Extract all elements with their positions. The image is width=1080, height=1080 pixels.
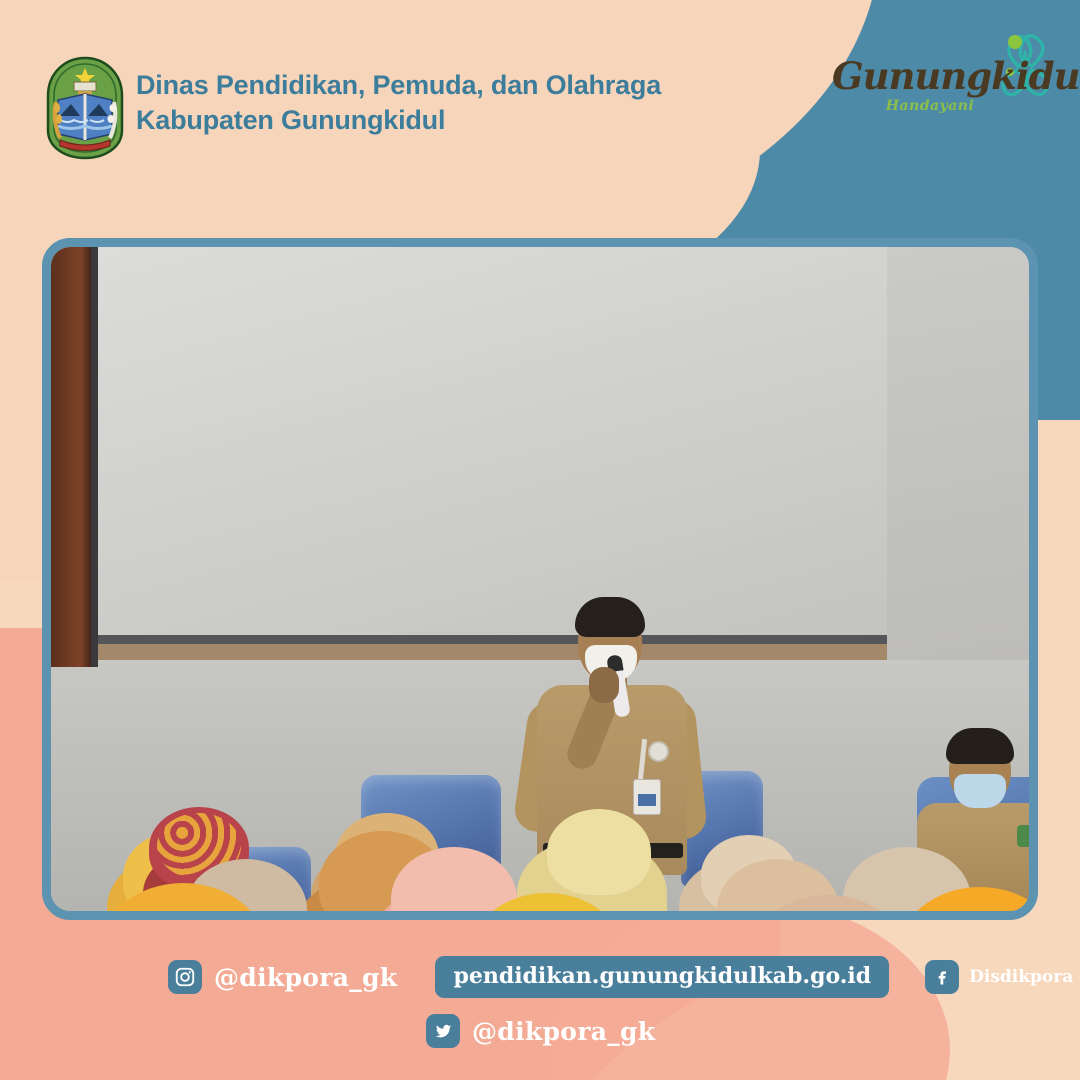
- facebook-page-name[interactable]: Disdikpora Gunungkidul: [969, 967, 1080, 987]
- website-url-pill[interactable]: pendidikan.gunungkidulkab.go.id: [435, 956, 889, 998]
- brand-wordmark: Gunungkidul: [832, 54, 1042, 98]
- gunungkidul-coat-of-arms-icon: [44, 56, 126, 160]
- door-edge: [91, 247, 98, 667]
- speaker-hair: [575, 597, 645, 637]
- poster-footer: @dikpora_gk pendidikan.gunungkidulkab.go…: [0, 940, 1080, 1080]
- poster-canvas: Dinas Pendidikan, Pemuda, dan Olahraga K…: [0, 0, 1080, 1080]
- twitter-icon[interactable]: [426, 1014, 460, 1048]
- event-photo-frame: [42, 238, 1038, 920]
- instagram-icon[interactable]: [168, 960, 202, 994]
- uniform-patch: [1017, 825, 1029, 847]
- poster-header: Dinas Pendidikan, Pemuda, dan Olahraga K…: [0, 0, 1080, 210]
- footer-row-secondary: @dikpora_gk: [426, 1014, 655, 1048]
- facebook-group[interactable]: Disdikpora Gunungkidul: [925, 960, 1080, 994]
- agency-line-2: Kabupaten Gunungkidul: [136, 103, 756, 138]
- gunungkidul-brand-logo: Gunungkidul Handayani: [832, 26, 1062, 136]
- projection-screen: [97, 247, 887, 639]
- page-title: Dinas Pendidikan, Pemuda, dan Olahraga K…: [136, 68, 756, 138]
- id-badge: [633, 779, 661, 815]
- instagram-handle[interactable]: @dikpora_gk: [214, 963, 397, 992]
- blue-surgical-mask-icon: [954, 774, 1006, 808]
- speaker-hand: [589, 667, 619, 703]
- audience-member: [547, 809, 651, 895]
- uniform-emblem: [648, 741, 669, 762]
- footer-row-primary: @dikpora_gk pendidikan.gunungkidulkab.go…: [168, 956, 1080, 998]
- agency-line-1: Dinas Pendidikan, Pemuda, dan Olahraga: [136, 68, 756, 103]
- screen-bottom-frame: [97, 635, 887, 644]
- screen-ledge: [97, 644, 887, 660]
- twitter-handle[interactable]: @dikpora_gk: [472, 1017, 655, 1046]
- facebook-icon[interactable]: [925, 960, 959, 994]
- seated-official-hair: [946, 728, 1014, 764]
- room-door: [51, 247, 93, 667]
- brand-tagline: Handayani: [840, 98, 1020, 114]
- event-photo: [51, 247, 1029, 911]
